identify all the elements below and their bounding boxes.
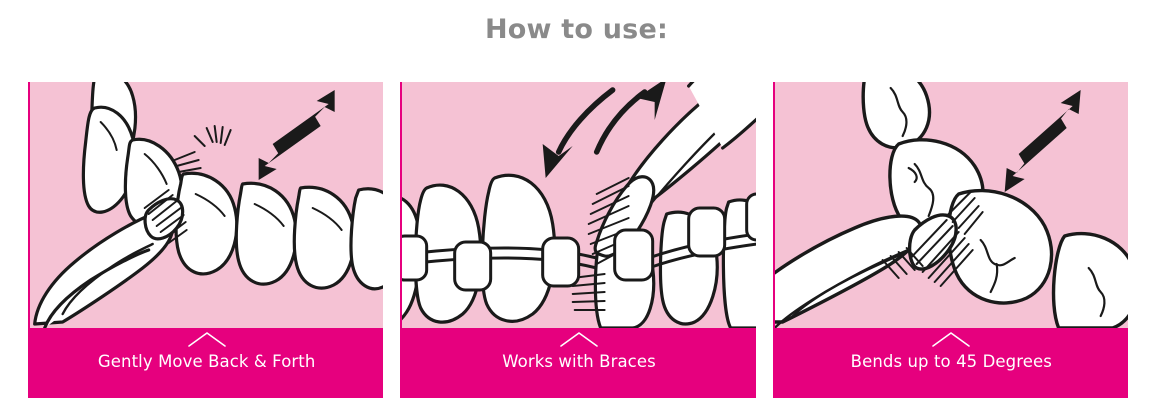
illustration-interdental-brush-front-teeth (30, 82, 383, 328)
caption-bar-works-with-braces: Works with Braces (402, 328, 755, 398)
panel-caption-label: Works with Braces (502, 353, 656, 371)
chevron-up-icon (187, 330, 227, 348)
panel-works-with-braces[interactable]: Works with Braces (400, 82, 755, 398)
panel-gentle-move[interactable]: Gently Move Back & Forth (28, 82, 383, 398)
illustration-interdental-brush-molars-bent (775, 82, 1128, 328)
illustration-interdental-brush-braces (402, 82, 755, 328)
caption-bar-gentle-move: Gently Move Back & Forth (30, 328, 383, 398)
how-to-use-panel-group: Gently Move Back & Forth (28, 82, 1128, 398)
panel-caption-label: Bends up to 45 Degrees (851, 353, 1052, 371)
caption-bar-bends-45: Bends up to 45 Degrees (775, 328, 1128, 398)
panel-bends-45[interactable]: Bends up to 45 Degrees (773, 82, 1128, 398)
panel-caption-label: Gently Move Back & Forth (98, 353, 315, 371)
chevron-up-icon (559, 330, 599, 348)
page-title: How to use: (0, 14, 1153, 45)
chevron-up-icon (931, 330, 971, 348)
